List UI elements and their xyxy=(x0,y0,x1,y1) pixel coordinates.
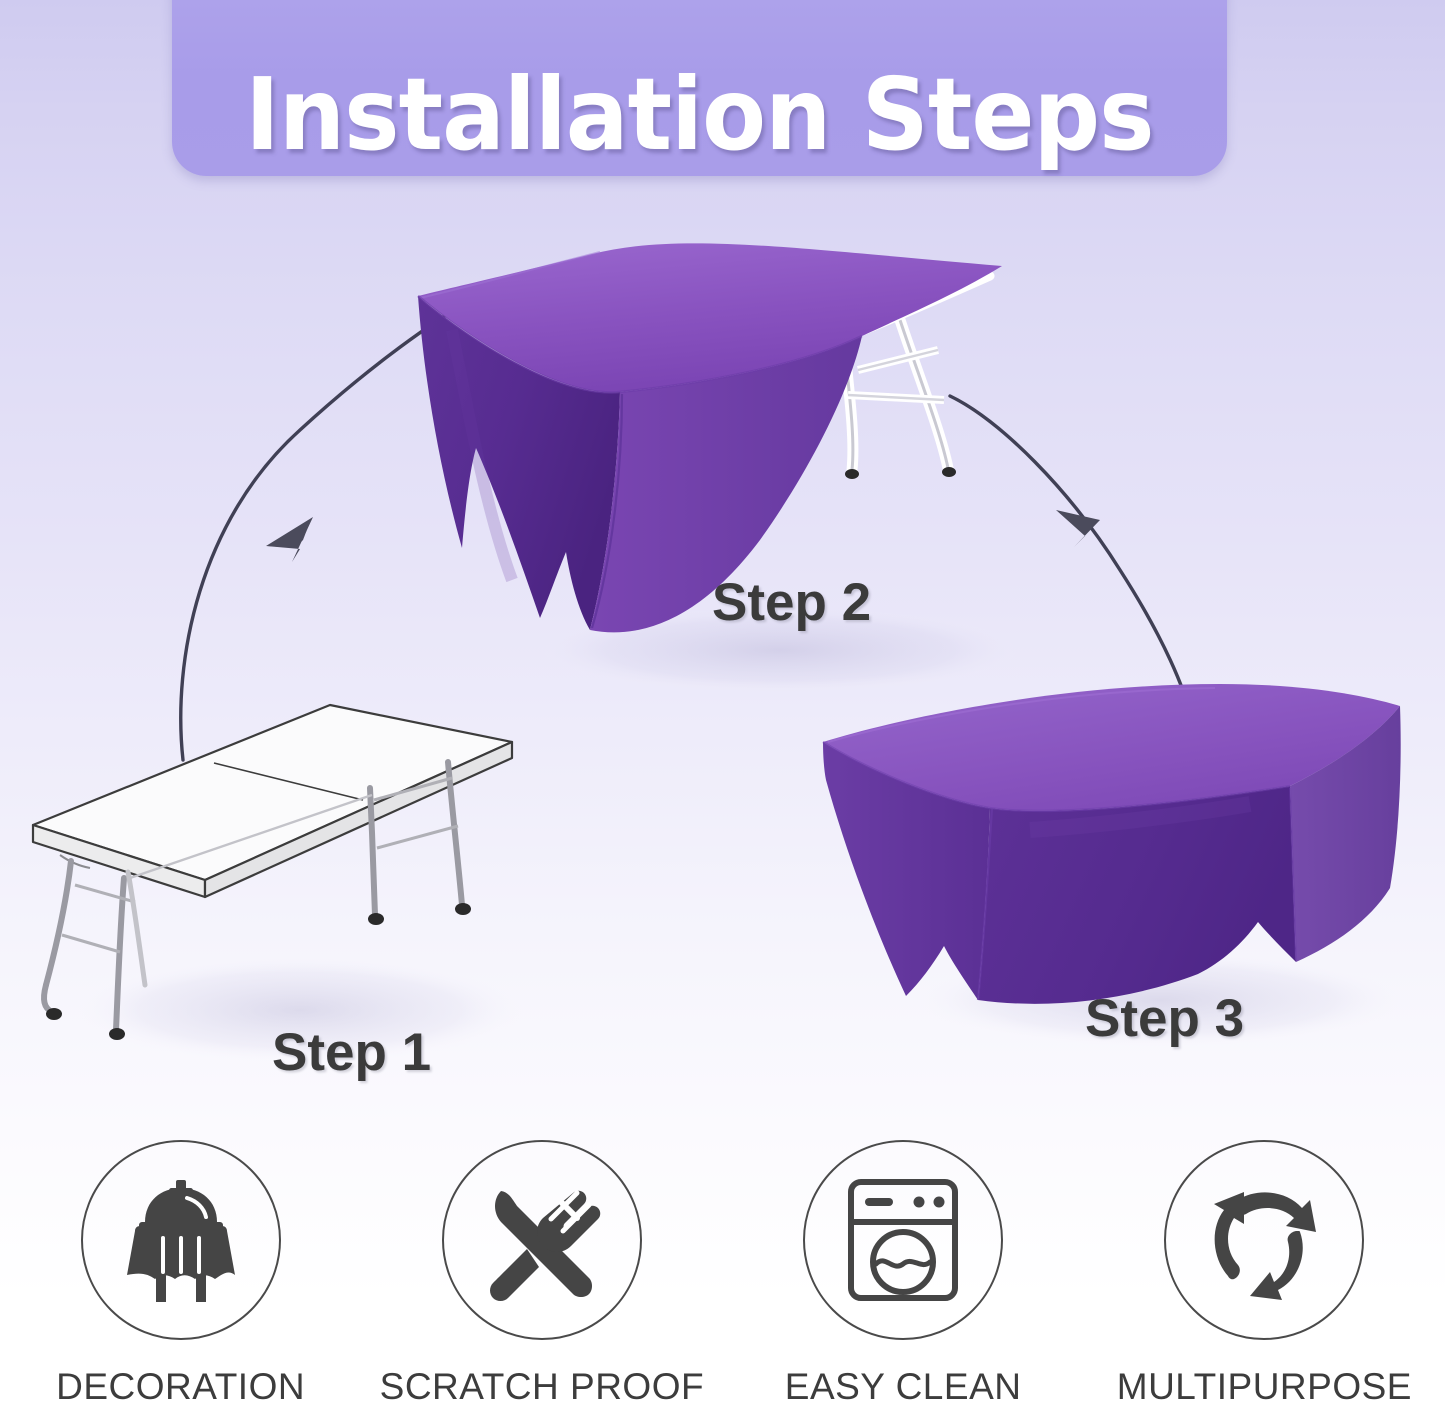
arrow-step2-to-step3 xyxy=(950,396,1192,720)
knife-and-fork-icon xyxy=(477,1175,607,1305)
feature-easy-clean: EASY CLEAN xyxy=(723,1140,1084,1410)
title-banner: Installation Steps xyxy=(172,0,1227,176)
step-3-label: Step 3 xyxy=(1085,988,1244,1049)
feature-multipurpose: MULTIPURPOSE xyxy=(1084,1140,1445,1410)
feature-row: DECORATION xyxy=(0,1140,1445,1410)
washing-machine-icon xyxy=(843,1174,963,1306)
infographic-page: Installation Steps xyxy=(0,0,1445,1410)
feature-easy-clean-circle xyxy=(803,1140,1003,1340)
feature-multipurpose-circle xyxy=(1164,1140,1364,1340)
feature-decoration-label: DECORATION xyxy=(56,1366,305,1408)
step2-covered-table xyxy=(418,243,1002,632)
feature-decoration: DECORATION xyxy=(0,1140,361,1410)
step2-table-legs xyxy=(845,276,990,479)
table-with-cloche-icon xyxy=(115,1174,247,1306)
feature-easy-clean-label: EASY CLEAN xyxy=(785,1366,1022,1408)
arrow-step1-to-step2 xyxy=(181,300,470,760)
feature-decoration-circle xyxy=(81,1140,281,1340)
step-1-label: Step 1 xyxy=(272,1022,431,1083)
recycle-arrows-icon xyxy=(1194,1170,1334,1310)
step-2-label: Step 2 xyxy=(712,572,871,633)
page-title: Installation Steps xyxy=(245,64,1153,166)
step1-folding-table xyxy=(33,705,512,1040)
step3-covered-table xyxy=(823,684,1401,1004)
feature-scratch-proof: SCRATCH PROOF xyxy=(361,1140,722,1410)
feature-scratch-proof-label: SCRATCH PROOF xyxy=(380,1366,704,1408)
feature-scratch-proof-circle xyxy=(442,1140,642,1340)
feature-multipurpose-label: MULTIPURPOSE xyxy=(1117,1366,1412,1408)
